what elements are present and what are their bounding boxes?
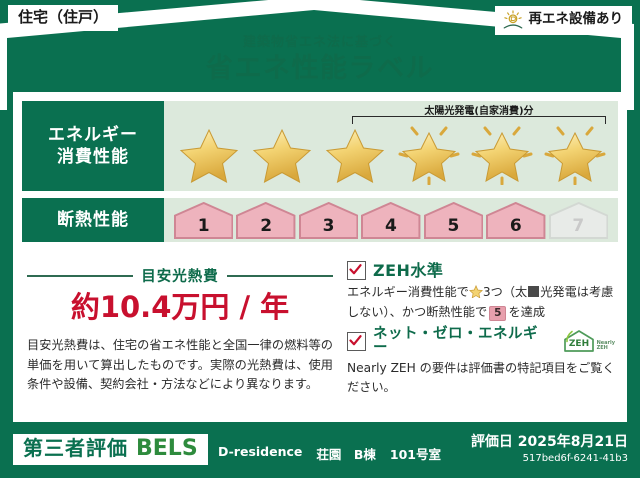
zeh-house-logo-icon: ZEH Nearly ZEH (562, 329, 615, 353)
zeh-standard-body-stars: 3つ（太 (483, 285, 527, 299)
energy-performance-row: エネルギー 消費性能 太陽光発電(自家消費)分 (22, 101, 618, 191)
insulation-scale: 1 2 3 4 5 (174, 202, 608, 239)
insulation-level-2-label: 2 (260, 216, 272, 239)
star-5-solar (469, 123, 535, 185)
missing-glyph-icon (528, 286, 539, 297)
title-main: 省エネ性能ラベル (0, 52, 640, 86)
energy-star-rating (176, 123, 608, 185)
utility-cost-column: 目安光熱費 約10.4万円 / 年 目安光熱費は、住宅の省エネ性能と全国一律の燃… (13, 255, 343, 422)
evaluation-date: 評価日 2025年8月21日 (471, 434, 628, 451)
insulation-scale-area: 1 2 3 4 5 (164, 198, 618, 242)
inline-star-icon (469, 285, 483, 298)
net-zero-body: Nearly ZEH の要件は評価書の特記項目をご覧ください。 (347, 359, 615, 399)
utility-cost-value: 約10.4万円 / 年 (27, 292, 333, 324)
energy-star-area: 太陽光発電(自家消費)分 (164, 101, 618, 191)
building-info: D-residence 荘園 B棟 101号室 (218, 444, 441, 463)
solar-annotation: 太陽光発電(自家消費)分 (352, 103, 606, 125)
utility-cost-heading: 目安光熱費 (27, 265, 333, 286)
insulation-level-4: 4 (361, 202, 420, 239)
sun-icon (502, 10, 524, 30)
renewable-equipment-badge: 再エネ設備あり (495, 6, 633, 35)
category-tag: 住宅（住戸） (8, 5, 118, 31)
zeh-standard-body-part1: エネルギー消費性能で (347, 285, 469, 299)
zeh-logo-sub: Nearly ZEH (597, 341, 615, 354)
insulation-level-7: 7 (549, 202, 608, 239)
insulation-level-3: 3 (299, 202, 358, 239)
zeh-logo-sub-line2: ZEH (597, 345, 608, 351)
title-block: 建築物省エネ法に基づく 省エネ性能ラベル (0, 36, 640, 86)
title-subtitle: 建築物省エネ法に基づく (0, 36, 640, 50)
footer-bar: 第三者評価 BELS D-residence 荘園 B棟 101号室 評価日 2… (0, 426, 640, 478)
insulation-level-1: 1 (174, 202, 233, 239)
heading-rule-right (227, 275, 333, 277)
building-room: 101号室 (390, 444, 441, 463)
insulation-performance-label: 断熱性能 (22, 198, 164, 242)
insulation-level-7-label: 7 (572, 216, 584, 239)
star-4-solar (396, 123, 462, 185)
star-6-solar (542, 123, 608, 185)
insulation-level-3-label: 3 (323, 216, 335, 239)
zeh-standard-heading: ZEH水準 (347, 261, 615, 280)
net-zero-block: ネット・ゼロ・エネルギー ZEH Nearly ZEH (347, 327, 615, 399)
insulation-level-1-label: 1 (198, 216, 210, 239)
bels-en-label: BELS (136, 438, 198, 460)
building-name: D-residence (218, 444, 302, 463)
renewable-badge-label: 再エネ設備あり (529, 13, 624, 27)
insulation-performance-row: 断熱性能 1 2 3 (22, 198, 618, 242)
solar-annotation-label: 太陽光発電(自家消費)分 (352, 102, 606, 117)
insulation-level-4-label: 4 (385, 216, 397, 239)
label-card: エネルギー 消費性能 太陽光発電(自家消費)分 (13, 92, 627, 422)
zeh-standard-body: エネルギー消費性能で3つ（太光発電は考慮しない）、かつ断熱性能で5を達成 (347, 283, 615, 323)
zeh-standard-body-part3: を達成 (508, 305, 545, 319)
svg-text:ZEH: ZEH (569, 339, 589, 349)
net-zero-title: ネット・ゼロ・エネルギー (373, 327, 552, 356)
zeh-standard-title: ZEH水準 (373, 263, 443, 279)
utility-cost-heading-label: 目安光熱費 (141, 265, 219, 286)
net-zero-heading: ネット・ゼロ・エネルギー ZEH Nearly ZEH (347, 327, 615, 356)
insulation-level-6: 6 (486, 202, 545, 239)
star-3 (322, 123, 388, 185)
heading-rule-left (27, 275, 133, 277)
energy-label-line2: 消費性能 (57, 146, 129, 168)
label-root: 住宅（住戸） 再エネ設備あり 建築物省エネ法に基づく 省エネ性能ラベル (0, 0, 640, 478)
energy-performance-label: エネルギー 消費性能 (22, 101, 164, 191)
utility-cost-note: 目安光熱費は、住宅の省エネ性能と全国一律の燃料等の単価を用いて算出したものです。… (27, 336, 333, 395)
star-2 (249, 123, 315, 185)
bels-logo: 第三者評価 BELS (13, 434, 208, 465)
insulation-level-5-label: 5 (447, 216, 459, 239)
building-block: 荘園 B棟 (316, 444, 376, 463)
zeh-standard-checkbox[interactable] (347, 261, 366, 280)
net-zero-checkbox[interactable] (347, 332, 366, 351)
insulation-level-6-label: 6 (510, 216, 522, 239)
insulation-badge-5: 5 (489, 306, 506, 321)
zeh-standard-block: ZEH水準 エネルギー消費性能で3つ（太光発電は考慮しない）、かつ断熱性能で5を… (347, 261, 615, 323)
bels-jp-label: 第三者評価 (23, 438, 128, 458)
solar-annotation-bracket (352, 116, 606, 124)
star-1 (176, 123, 242, 185)
energy-label-line1: エネルギー (48, 124, 138, 146)
insulation-level-5: 5 (424, 202, 483, 239)
insulation-level-2: 2 (236, 202, 295, 239)
evaluation-uid: 517bed6f-6241-41b3 (471, 452, 628, 465)
zeh-column: ZEH水準 エネルギー消費性能で3つ（太光発電は考慮しない）、かつ断熱性能で5を… (343, 255, 627, 422)
evaluation-info: 評価日 2025年8月21日 517bed6f-6241-41b3 (471, 434, 628, 465)
lower-section: 目安光熱費 約10.4万円 / 年 目安光熱費は、住宅の省エネ性能と全国一律の燃… (13, 255, 627, 422)
